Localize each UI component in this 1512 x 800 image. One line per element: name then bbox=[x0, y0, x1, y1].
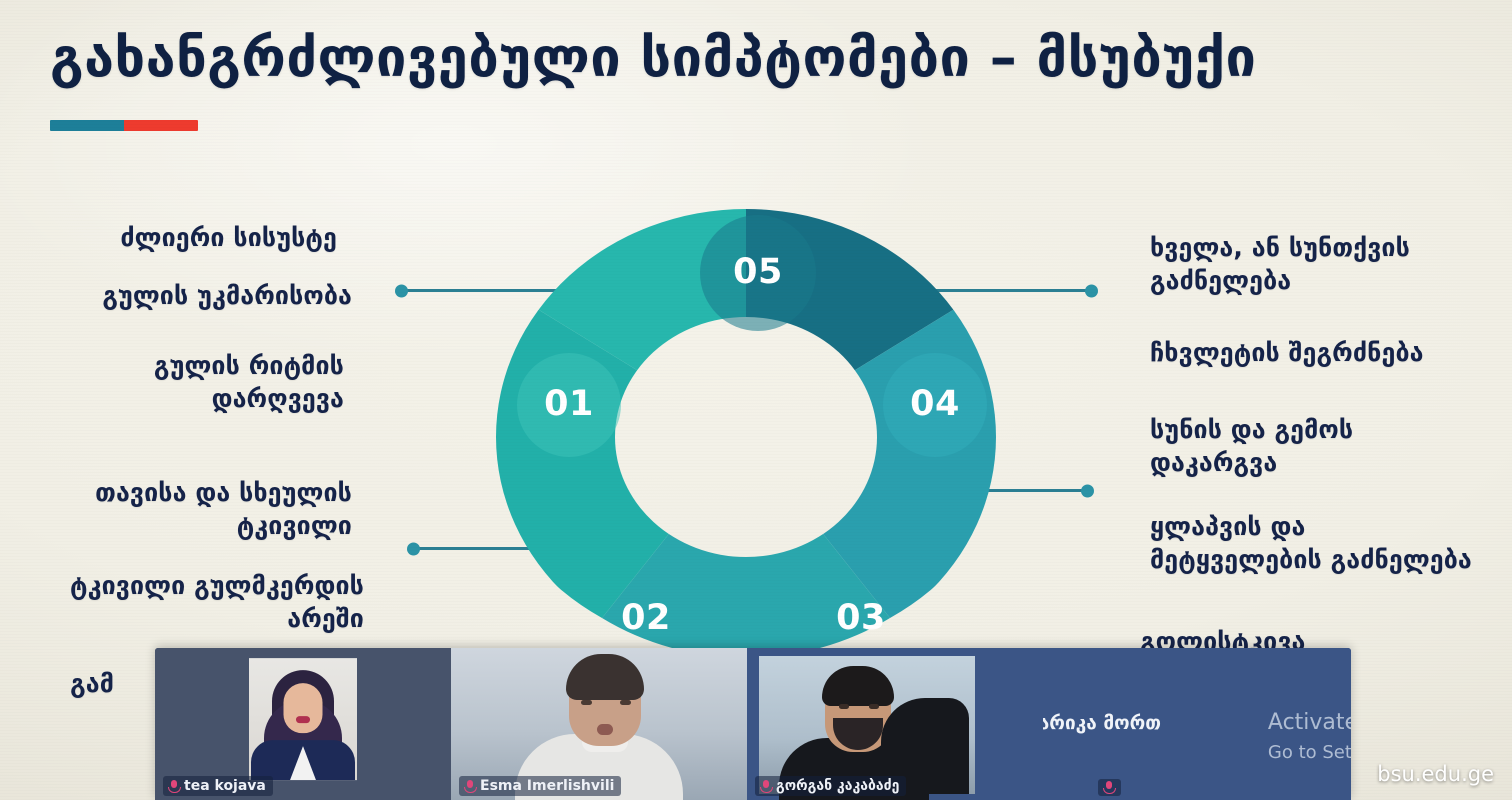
title-accent-bar bbox=[50, 120, 198, 131]
label-line: ტკივილი bbox=[2, 510, 352, 543]
donut-label-04: 04 bbox=[910, 384, 960, 424]
label-line: გამ bbox=[0, 668, 114, 701]
label-right-3: სუნის და გემოსდაკარგვა bbox=[1150, 414, 1500, 479]
meeting-participant-strip[interactable]: tea kojava Esma Imerlishvili bbox=[155, 648, 1351, 800]
label-left-5: ტკივილი გულმკერდისარეში bbox=[0, 570, 364, 635]
label-line: ჩხვლეტის შეგრძნება bbox=[1150, 337, 1505, 370]
participant-name-badge: Esma Imerlishvili bbox=[459, 776, 621, 796]
donut-label-03: 03 bbox=[836, 598, 886, 638]
label-right-1: ხველა, ან სუნთქვისგაძნელება bbox=[1150, 232, 1500, 297]
label-line: მეტყველების გაძნელება bbox=[1150, 544, 1510, 577]
windows-activation-watermark: Activate Go to Sett bbox=[1268, 706, 1351, 766]
avatar bbox=[249, 658, 357, 780]
mic-muted-icon bbox=[1103, 781, 1114, 794]
participant-tile-2[interactable]: Esma Imerlishvili bbox=[451, 648, 747, 800]
label-line: გულის უკმარისობა bbox=[12, 280, 352, 313]
slide-screen: გახანგრძლივებული სიმპტომები – მსუბუქი bbox=[0, 0, 1512, 800]
connector-dot bbox=[407, 542, 420, 555]
participant-name: Esma Imerlishvili bbox=[480, 778, 614, 794]
label-line: გულის რიტმის bbox=[4, 350, 344, 383]
label-line: გაძნელება bbox=[1150, 265, 1500, 298]
participant-tile-4[interactable]: მარიკა მორთ Activate Go to Sett bbox=[1043, 648, 1351, 800]
label-left-6: გამ bbox=[0, 668, 114, 701]
activation-line-1: Activate bbox=[1268, 706, 1351, 739]
label-line: დარღვევა bbox=[4, 383, 344, 416]
label-left-2: გულის უკმარისობა bbox=[12, 280, 352, 313]
label-line: არეში bbox=[0, 603, 364, 636]
participant-name: tea kojava bbox=[184, 778, 266, 794]
label-left-4: თავისა და სხეულისტკივილი bbox=[2, 477, 352, 542]
donut-chart-svg: 05 04 01 02 03 bbox=[491, 205, 1001, 670]
participant-name: მარიკა მორთ bbox=[1043, 712, 1161, 734]
participant-tile-1[interactable]: tea kojava bbox=[155, 648, 451, 800]
site-watermark: bsu.edu.ge bbox=[1377, 762, 1494, 786]
donut-chart: 05 04 01 02 03 bbox=[491, 205, 1001, 670]
page-title: გახანგრძლივებული სიმპტომები – მსუბუქი bbox=[50, 28, 1256, 88]
donut-label-02: 02 bbox=[621, 598, 671, 638]
mic-muted-icon bbox=[168, 780, 179, 793]
label-left-1: ძლიერი სისუსტე bbox=[17, 222, 337, 255]
webcam-feed bbox=[759, 656, 975, 794]
accent-bar-right bbox=[124, 120, 198, 131]
label-line: სუნის და გემოს bbox=[1150, 414, 1500, 447]
label-right-4: ყლაპვის დამეტყველების გაძნელება bbox=[1150, 511, 1510, 576]
label-line: დაკარგვა bbox=[1150, 447, 1500, 480]
label-line: ტკივილი გულმკერდის bbox=[0, 570, 364, 603]
participant-name: გორგან კაკაბაძე bbox=[776, 778, 899, 794]
donut-label-01: 01 bbox=[544, 384, 594, 424]
accent-bar-left bbox=[50, 120, 124, 131]
participant-tile-3[interactable]: გორგან კაკაბაძე bbox=[747, 648, 1043, 800]
label-line: ხველა, ან სუნთქვის bbox=[1150, 232, 1500, 265]
label-left-3: გულის რიტმისდარღვევა bbox=[4, 350, 344, 415]
label-line: ძლიერი სისუსტე bbox=[17, 222, 337, 255]
connector-dot bbox=[1081, 484, 1094, 497]
donut-label-05: 05 bbox=[733, 252, 783, 292]
connector-dot bbox=[1085, 284, 1098, 297]
participant-name-badge: გორგან კაკაბაძე bbox=[755, 776, 906, 796]
label-right-2: ჩხვლეტის შეგრძნება bbox=[1150, 337, 1505, 370]
activation-line-2: Go to Sett bbox=[1268, 739, 1351, 766]
mic-muted-icon bbox=[464, 780, 475, 793]
mic-muted-icon bbox=[760, 780, 771, 793]
participant-name-badge bbox=[1098, 779, 1121, 796]
label-line: ყლაპვის და bbox=[1150, 511, 1510, 544]
label-line: თავისა და სხეულის bbox=[2, 477, 352, 510]
participant-name-badge: tea kojava bbox=[163, 776, 273, 796]
connector-dot bbox=[395, 284, 408, 297]
